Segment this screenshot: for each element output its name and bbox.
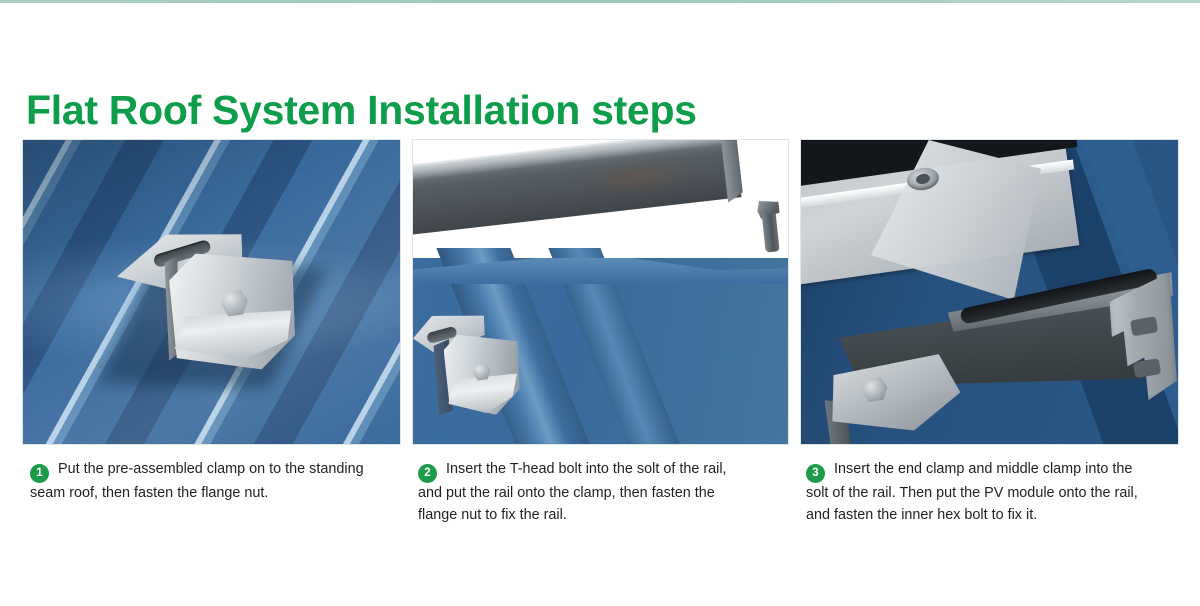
scene-module-and-clamp <box>801 140 1178 444</box>
installation-step-images <box>0 139 1200 445</box>
end-clamp-icon <box>827 353 964 445</box>
scene-standing-seam-roof <box>23 140 400 444</box>
step-badge-1: 1 <box>30 464 49 483</box>
step-caption-3: 3Insert the end clamp and middle clamp i… <box>806 459 1158 526</box>
step-badge-2: 2 <box>418 464 437 483</box>
step-image-2 <box>412 139 789 445</box>
bolt-shank <box>762 213 780 252</box>
step-caption-1: 1Put the pre-assembled clamp on to the s… <box>30 459 382 505</box>
step-caption-text-2: Insert the T-head bolt into the solt of … <box>418 461 727 523</box>
step-caption-text-3: Insert the end clamp and middle clamp in… <box>806 461 1138 523</box>
step-image-1 <box>22 139 401 445</box>
step-badge-3: 3 <box>806 464 825 483</box>
step-caption-text-1: Put the pre-assembled clamp on to the st… <box>30 461 364 501</box>
clamp-assembly-icon <box>412 311 528 439</box>
step-caption-2: 2Insert the T-head bolt into the solt of… <box>418 459 748 526</box>
page-title: Flat Roof System Installation steps <box>26 87 697 134</box>
clamp-assembly-icon <box>115 222 310 389</box>
top-accent-rule <box>0 0 1200 3</box>
scene-rail-and-bolt <box>413 140 788 444</box>
step-image-3 <box>800 139 1179 445</box>
